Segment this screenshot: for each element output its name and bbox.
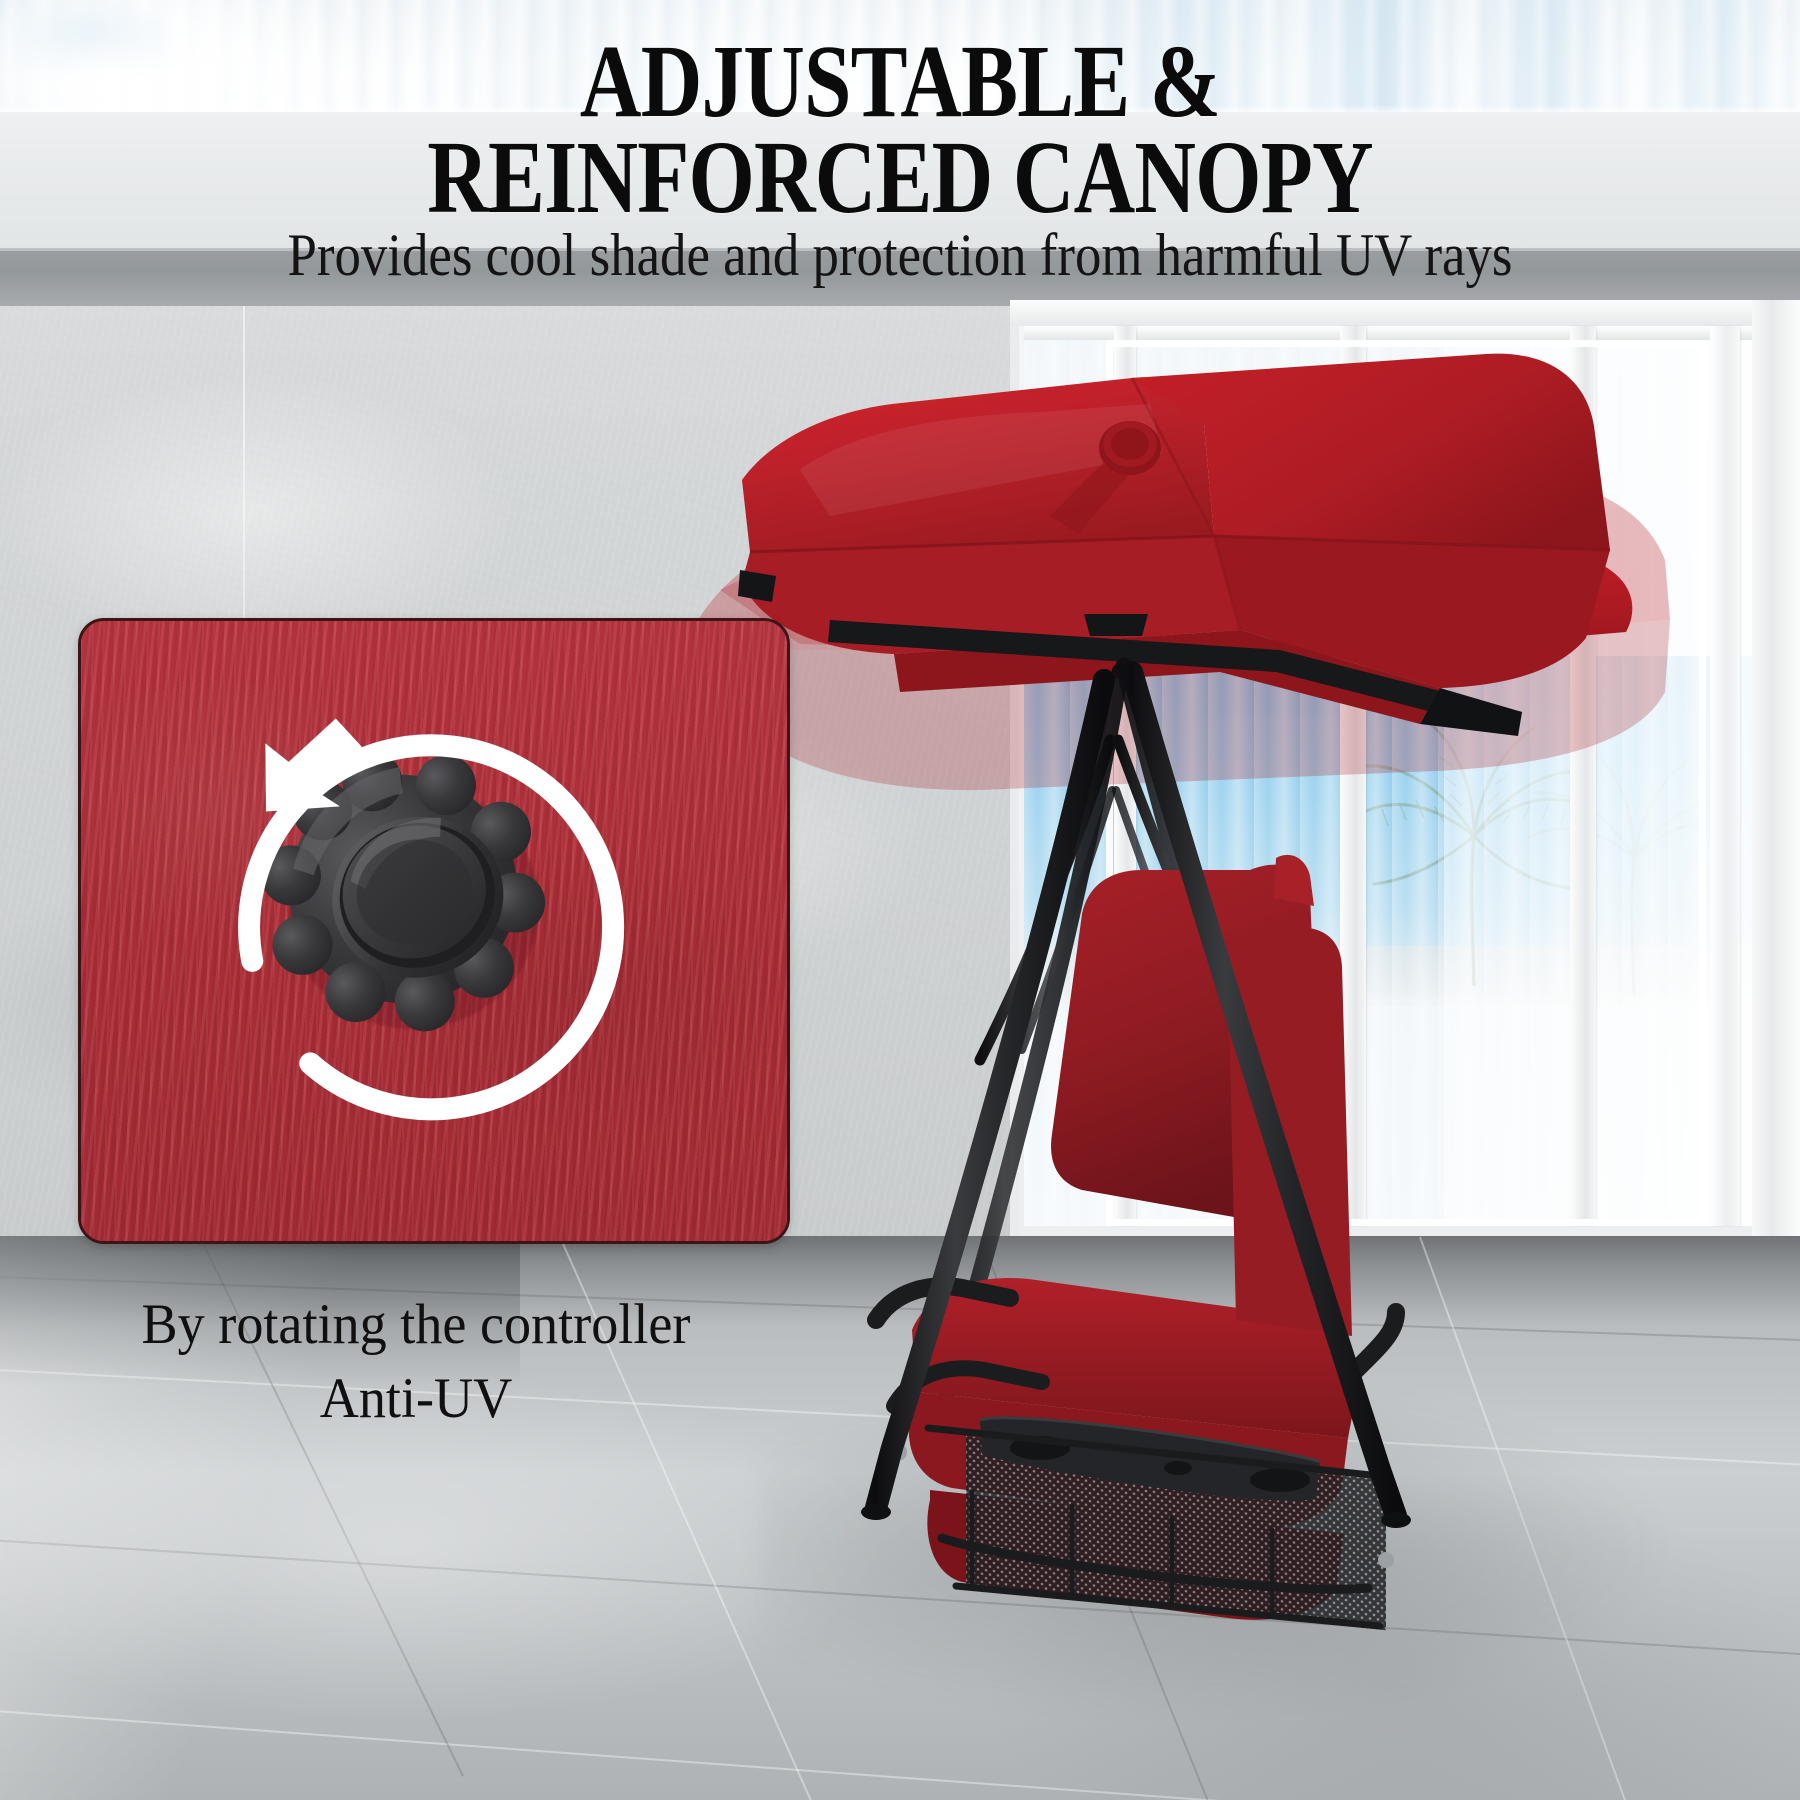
feature-inset-card <box>78 618 790 1244</box>
card-illustration <box>81 621 787 1241</box>
patio-swing-product <box>680 320 1690 1680</box>
bolt <box>1378 1552 1394 1568</box>
window-mullion <box>1710 326 1740 1226</box>
armrest-right <box>1356 1312 1396 1370</box>
window-jamb <box>1752 300 1800 1240</box>
mast-cap <box>1084 614 1148 636</box>
page-title: ADJUSTABLE & REINFORCED CANOPY <box>162 34 1638 226</box>
page-subtitle: Provides cool shade and protection from … <box>108 222 1692 288</box>
product-feature-graphic: ADJUSTABLE & REINFORCED CANOPY Provides … <box>0 0 1800 1800</box>
inset-card-caption: By rotating the controller Anti-UV <box>55 1288 777 1436</box>
